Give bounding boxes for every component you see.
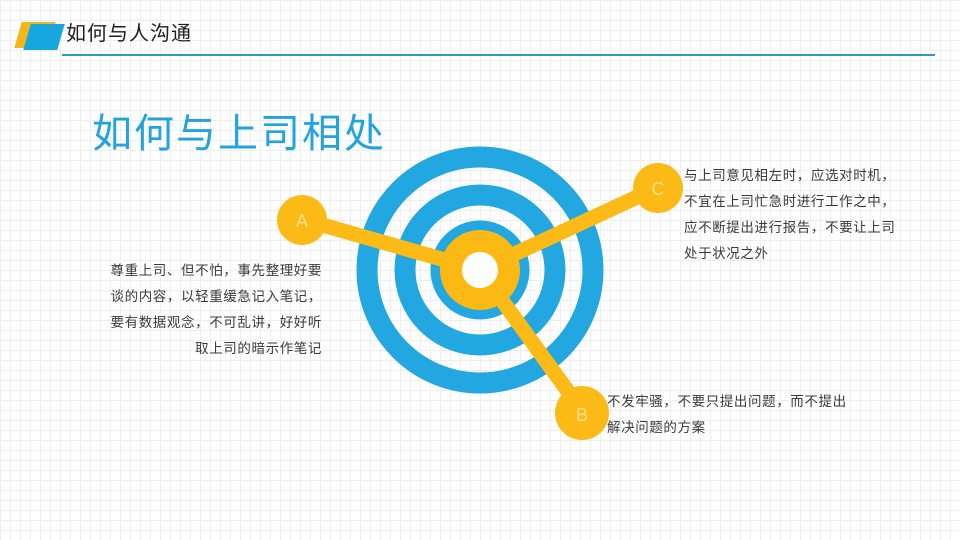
marker-a-label: A — [296, 211, 308, 231]
marker-c[interactable]: C — [633, 163, 683, 213]
callout-text-b: 不发牢骚，不要只提出问题，而不提出解决问题的方案 — [607, 389, 855, 441]
marker-c-label: C — [652, 179, 665, 199]
marker-a[interactable]: A — [277, 195, 327, 245]
target-hub-hole — [462, 252, 498, 288]
callout-text-a: 尊重上司、但不怕，事先整理好要谈的内容，以轻重缓急记入笔记，要有数据观念，不可乱… — [100, 258, 322, 362]
marker-b[interactable]: B — [555, 386, 609, 440]
header-divider — [62, 54, 935, 56]
header-title: 如何与人沟通 — [66, 20, 192, 48]
logo-front-shape-icon — [23, 24, 64, 50]
slide-header: 如何与人沟通 — [0, 0, 960, 60]
callout-text-c: 与上司意见相左时，应选对时机，不宜在上司忙急时进行工作之中，应不断提出进行报告，… — [684, 163, 908, 267]
logo-icon — [18, 22, 66, 48]
marker-b-label: B — [576, 405, 588, 425]
